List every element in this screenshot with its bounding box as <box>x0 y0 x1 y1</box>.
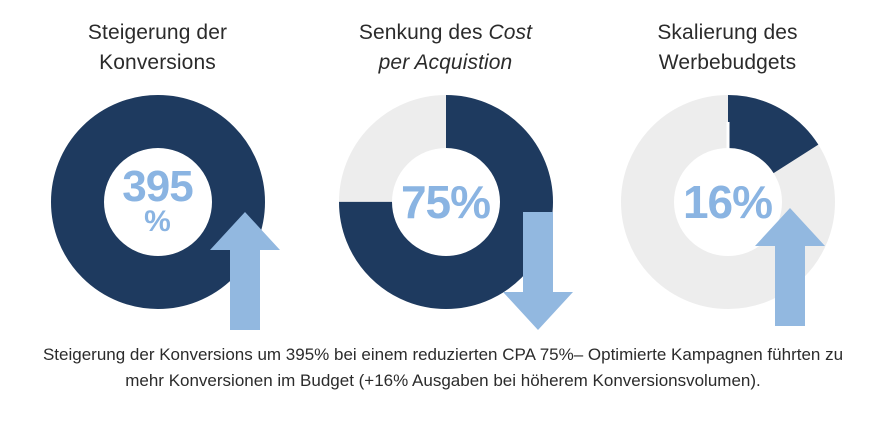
panel-title-line1: Skalierung des <box>657 21 797 44</box>
infographic-caption: Steigerung der Konversions um 395% bei e… <box>40 342 846 394</box>
panel-title-cost-per-acquistion: Senkung des Cost per Acquistion <box>298 18 593 78</box>
panel-title-line1: Steigerung der <box>88 21 227 44</box>
panel-title-italic-word: Cost <box>489 21 533 44</box>
metric-panel-werbebudgets: Skalierung des Werbebudgets 16% <box>580 0 875 340</box>
up-arrow-icon <box>755 208 825 326</box>
panel-title-line2: Werbebudgets <box>659 51 796 74</box>
down-arrow-icon <box>503 212 573 330</box>
up-arrow-svg <box>755 208 825 326</box>
panel-title-line2: Konversions <box>99 51 216 74</box>
panel-title-line1: Senkung des <box>359 21 489 44</box>
infographic-root: Steigerung der Konversions 395 % Senkung… <box>0 0 886 439</box>
metric-panel-cost-per-acquistion: Senkung des Cost per Acquistion 75% <box>298 0 593 340</box>
up-arrow-icon <box>210 212 280 330</box>
down-arrow-svg <box>503 212 573 330</box>
panel-title-konversions: Steigerung der Konversions <box>10 18 305 78</box>
metric-panel-konversions: Steigerung der Konversions 395 % <box>10 0 305 340</box>
up-arrow-svg <box>210 212 280 330</box>
panel-title-werbebudgets: Skalierung des Werbebudgets <box>580 18 875 78</box>
panel-title-line2: per Acquistion <box>379 51 513 74</box>
